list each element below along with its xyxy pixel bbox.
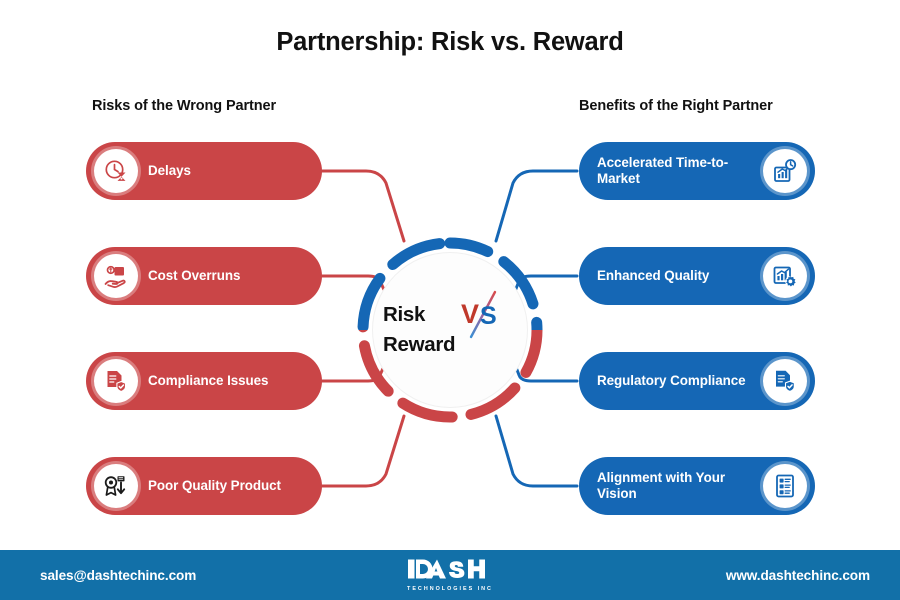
benefit-pill-enhanced-quality[interactable]: Enhanced Quality (579, 247, 815, 305)
versus-badge-icon: V S (455, 287, 513, 345)
left-column-header: Risks of the Wrong Partner (92, 98, 276, 114)
connector-alignment-vision (496, 416, 577, 486)
risk-pill-delays[interactable]: Delays (86, 142, 322, 200)
risk-pill-label: Cost Overruns (148, 268, 240, 284)
benefit-pill-label: Alignment with Your Vision (597, 470, 753, 503)
infographic-canvas: Partnership: Risk vs. Reward Risks of th… (0, 0, 900, 600)
document-shield-icon (763, 359, 807, 403)
right-column-header: Benefits of the Right Partner (579, 98, 773, 114)
benefit-pill-label: Enhanced Quality (597, 268, 709, 284)
connector-delays (322, 171, 404, 241)
connector-poor-quality (322, 416, 404, 486)
center-hub: Risk Reward V S (355, 235, 545, 425)
checklist-icon (763, 464, 807, 508)
benefit-pill-label: Accelerated Time-to-Market (597, 155, 753, 188)
clock-chart-icon (763, 149, 807, 193)
clock-hourglass-icon (94, 149, 138, 193)
risk-pill-label: Delays (148, 163, 191, 179)
dash-logo: TECHNOLOGIES INC (390, 558, 510, 592)
risk-pill-cost-overruns[interactable]: Cost Overruns (86, 247, 322, 305)
footer-email[interactable]: sales@dashtechinc.com (40, 568, 196, 583)
dash-logo-tagline: TECHNOLOGIES INC (390, 586, 510, 592)
page-title: Partnership: Risk vs. Reward (0, 28, 900, 57)
versus-v-letter: V (461, 299, 479, 329)
risk-pill-label: Compliance Issues (148, 373, 268, 389)
risk-pill-poor-quality-product[interactable]: Poor Quality Product (86, 457, 322, 515)
risk-pill-compliance-issues[interactable]: Compliance Issues (86, 352, 322, 410)
hand-money-icon (94, 254, 138, 298)
hub-line-risk: Risk (383, 300, 425, 330)
benefit-pill-regulatory-compliance[interactable]: Regulatory Compliance (579, 352, 815, 410)
dash-logo-mark (407, 558, 493, 580)
benefit-pill-label: Regulatory Compliance (597, 373, 746, 389)
award-decline-icon (94, 464, 138, 508)
hub-text-block: Risk Reward (355, 235, 545, 425)
hub-line-reward: Reward (383, 330, 455, 360)
risk-pill-label: Poor Quality Product (148, 478, 281, 494)
versus-s-letter: S (480, 302, 497, 330)
connector-time-to-market (496, 171, 577, 241)
benefit-pill-alignment-with-your-vision[interactable]: Alignment with Your Vision (579, 457, 815, 515)
document-check-icon (94, 359, 138, 403)
footer-bar: sales@dashtechinc.com TECHNOLOGIES INC w… (0, 550, 900, 600)
benefit-pill-accelerated-time-to-market[interactable]: Accelerated Time-to-Market (579, 142, 815, 200)
footer-website-url[interactable]: www.dashtechinc.com (726, 568, 870, 583)
chart-gear-icon (763, 254, 807, 298)
